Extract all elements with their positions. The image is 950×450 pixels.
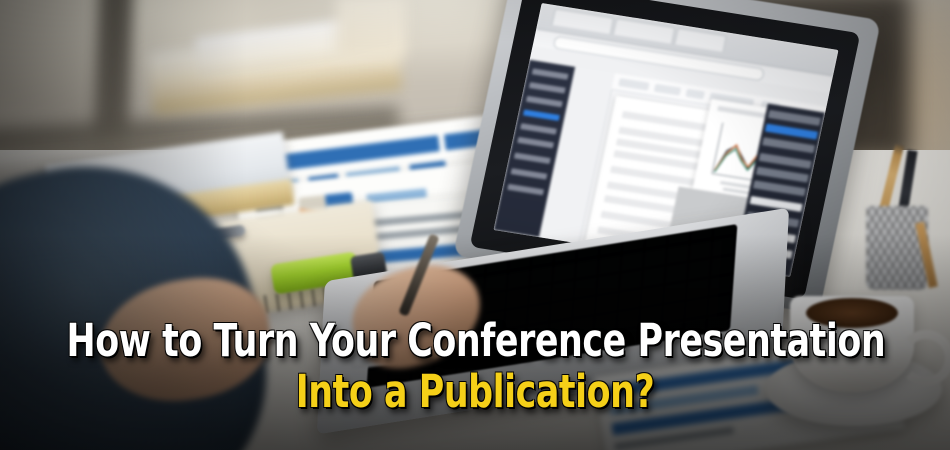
coffee-liquid — [806, 298, 898, 328]
cup-handle — [898, 330, 950, 386]
background-photo — [0, 0, 950, 450]
pencil-holder — [866, 206, 928, 290]
right-sidebar-item-selected[interactable] — [765, 124, 818, 140]
banner: How to Turn Your Conference Presentation… — [0, 0, 950, 450]
background-cup — [336, 0, 406, 60]
sidebar-item-selected[interactable] — [523, 109, 560, 121]
